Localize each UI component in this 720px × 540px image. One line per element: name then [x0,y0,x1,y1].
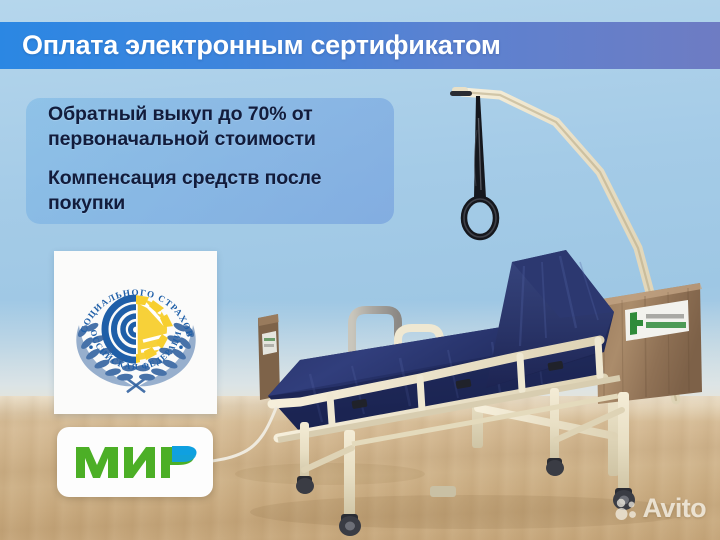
avito-dots-icon [614,497,638,521]
mir-logo-icon [72,440,198,484]
benefit-item: Обратный выкуп до 70% от первоначальной … [48,102,400,152]
fss-logo-card: ФОНД СОЦИАЛЬНОГО СТРАХОВАНИЯ РОССИЙСКАЯ … [54,251,217,414]
avito-watermark: Avito [614,495,707,522]
mir-logo-card [57,427,213,497]
banner-title: Оплата электронным сертификатом [0,30,501,61]
benefit-item: Компенсация средств после покупки [48,166,400,216]
benefits-list: Обратный выкуп до 70% от первоначальной … [48,102,400,230]
fss-emblem-icon: ФОНД СОЦИАЛЬНОГО СТРАХОВАНИЯ РОССИЙСКАЯ … [65,259,207,401]
header-banner: Оплата электронным сертификатом [0,22,720,69]
headboard-label [262,331,277,355]
listing-image: Оплата электронным сертификатом Обратный… [0,0,720,540]
avito-wordmark: Avito [643,495,707,522]
